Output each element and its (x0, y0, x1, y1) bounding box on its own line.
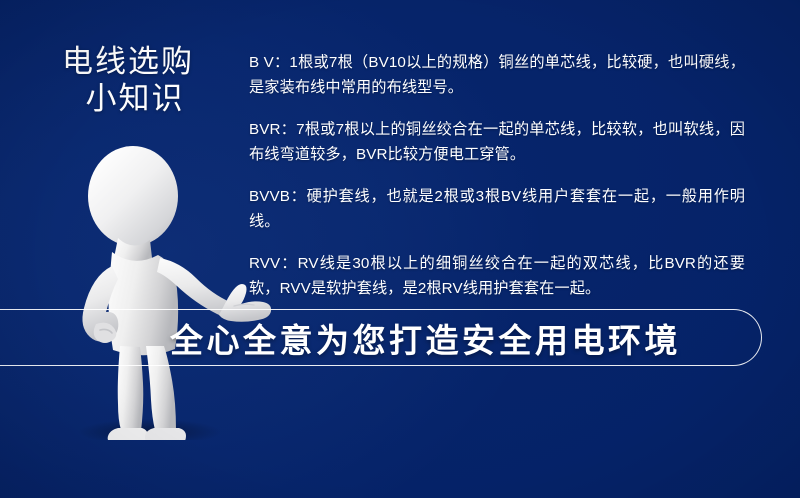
knowledge-text-block: B V：1根或7根（BV10以上的规格）铜丝的单芯线，比较硬，也叫硬线，是家装布… (249, 50, 745, 301)
slogan-text: 全心全意为您打造安全用电环境 (170, 309, 681, 366)
page-title: 电线选购 小知识 (28, 44, 228, 117)
paragraph-bv: B V：1根或7根（BV10以上的规格）铜丝的单芯线，比较硬，也叫硬线，是家装布… (249, 50, 745, 100)
paragraph-bvr: BVR：7根或7根以上的铜丝绞合在一起的单芯线，比较软，也叫软线，因布线弯道较多… (249, 117, 745, 167)
page-title-line-1: 电线选购 (62, 44, 194, 79)
slogan-banner: 全心全意为您打造安全用电环境 (0, 309, 762, 366)
page-title-line-2: 小知识 (28, 81, 228, 118)
promo-banner-canvas: 电线选购 小知识 (0, 0, 800, 498)
paragraph-bvvb: BVVB：硬护套线，也就是2根或3根BV线用户套套在一起，一般用作明线。 (249, 184, 745, 234)
paragraph-rvv: RVV：RV线是30根以上的细铜丝绞合在一起的双芯线，比BVR的还要软，RVV是… (249, 251, 745, 301)
